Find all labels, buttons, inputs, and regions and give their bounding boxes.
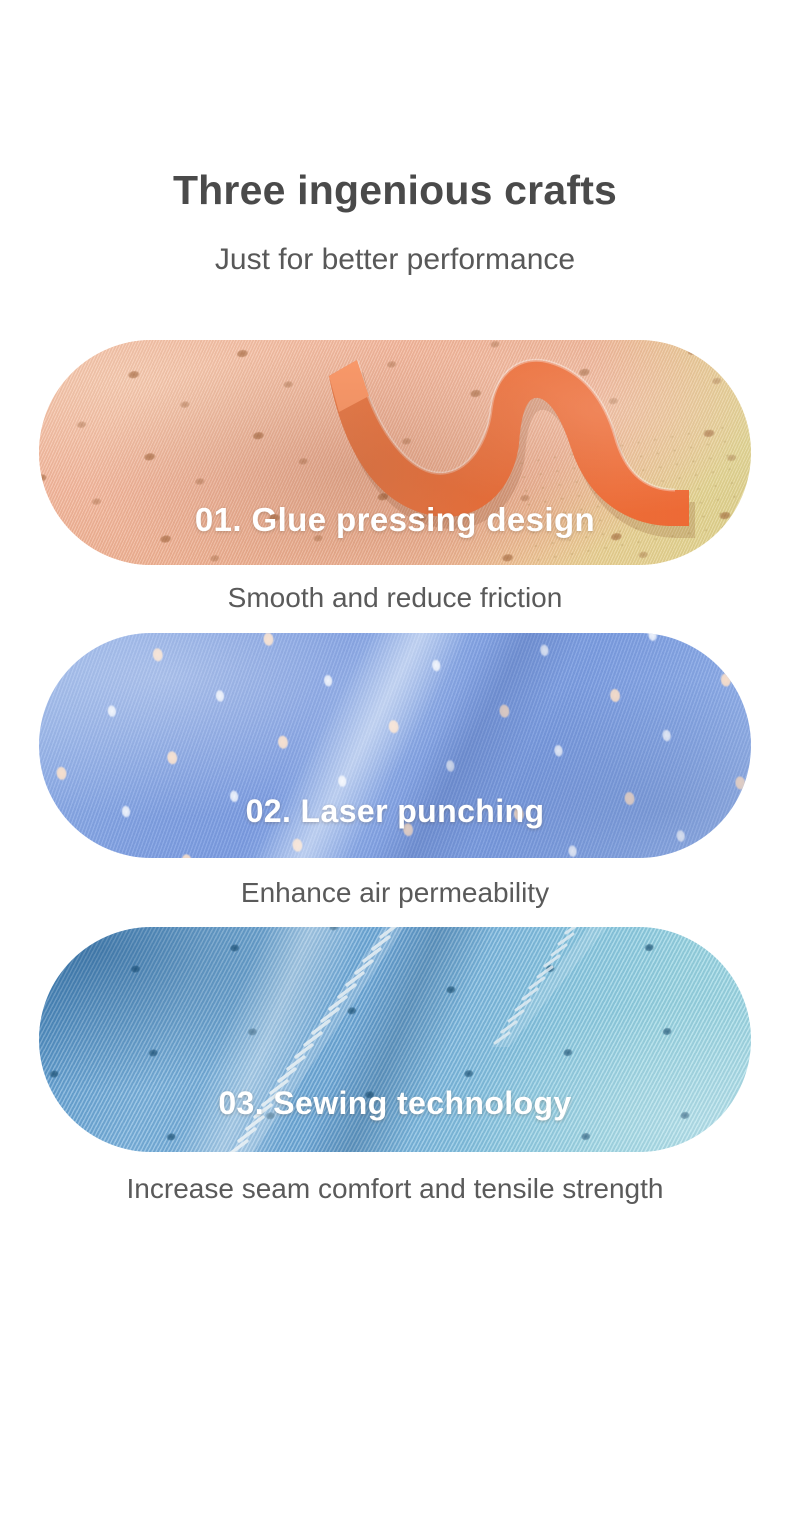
- craft-image-laser-punching[interactable]: 02. Laser punching: [39, 633, 751, 858]
- craft-image-sewing-technology[interactable]: 03. Sewing technology: [39, 927, 751, 1152]
- page-subtitle: Just for better performance: [0, 243, 790, 276]
- page-title: Three ingenious crafts: [0, 168, 790, 213]
- craft-item-02: 02. Laser punching Enhance air permeabil…: [0, 633, 790, 910]
- craft-overlay-title-01: 01. Glue pressing design: [39, 501, 751, 539]
- craft-image-glue-pressing[interactable]: 01. Glue pressing design: [39, 340, 751, 565]
- craft-item-03: 03. Sewing technology Increase seam comf…: [0, 927, 790, 1206]
- craft-caption-03: Increase seam comfort and tensile streng…: [0, 1172, 790, 1206]
- craft-overlay-title-02: 02. Laser punching: [39, 793, 751, 830]
- craft-item-01: 01. Glue pressing design Smooth and redu…: [0, 340, 790, 615]
- craft-overlay-title-03: 03. Sewing technology: [39, 1085, 751, 1122]
- craft-list: 01. Glue pressing design Smooth and redu…: [0, 340, 790, 1206]
- craft-caption-01: Smooth and reduce friction: [0, 581, 790, 615]
- craft-caption-02: Enhance air permeability: [0, 876, 790, 910]
- page-header: Three ingenious crafts Just for better p…: [0, 168, 790, 276]
